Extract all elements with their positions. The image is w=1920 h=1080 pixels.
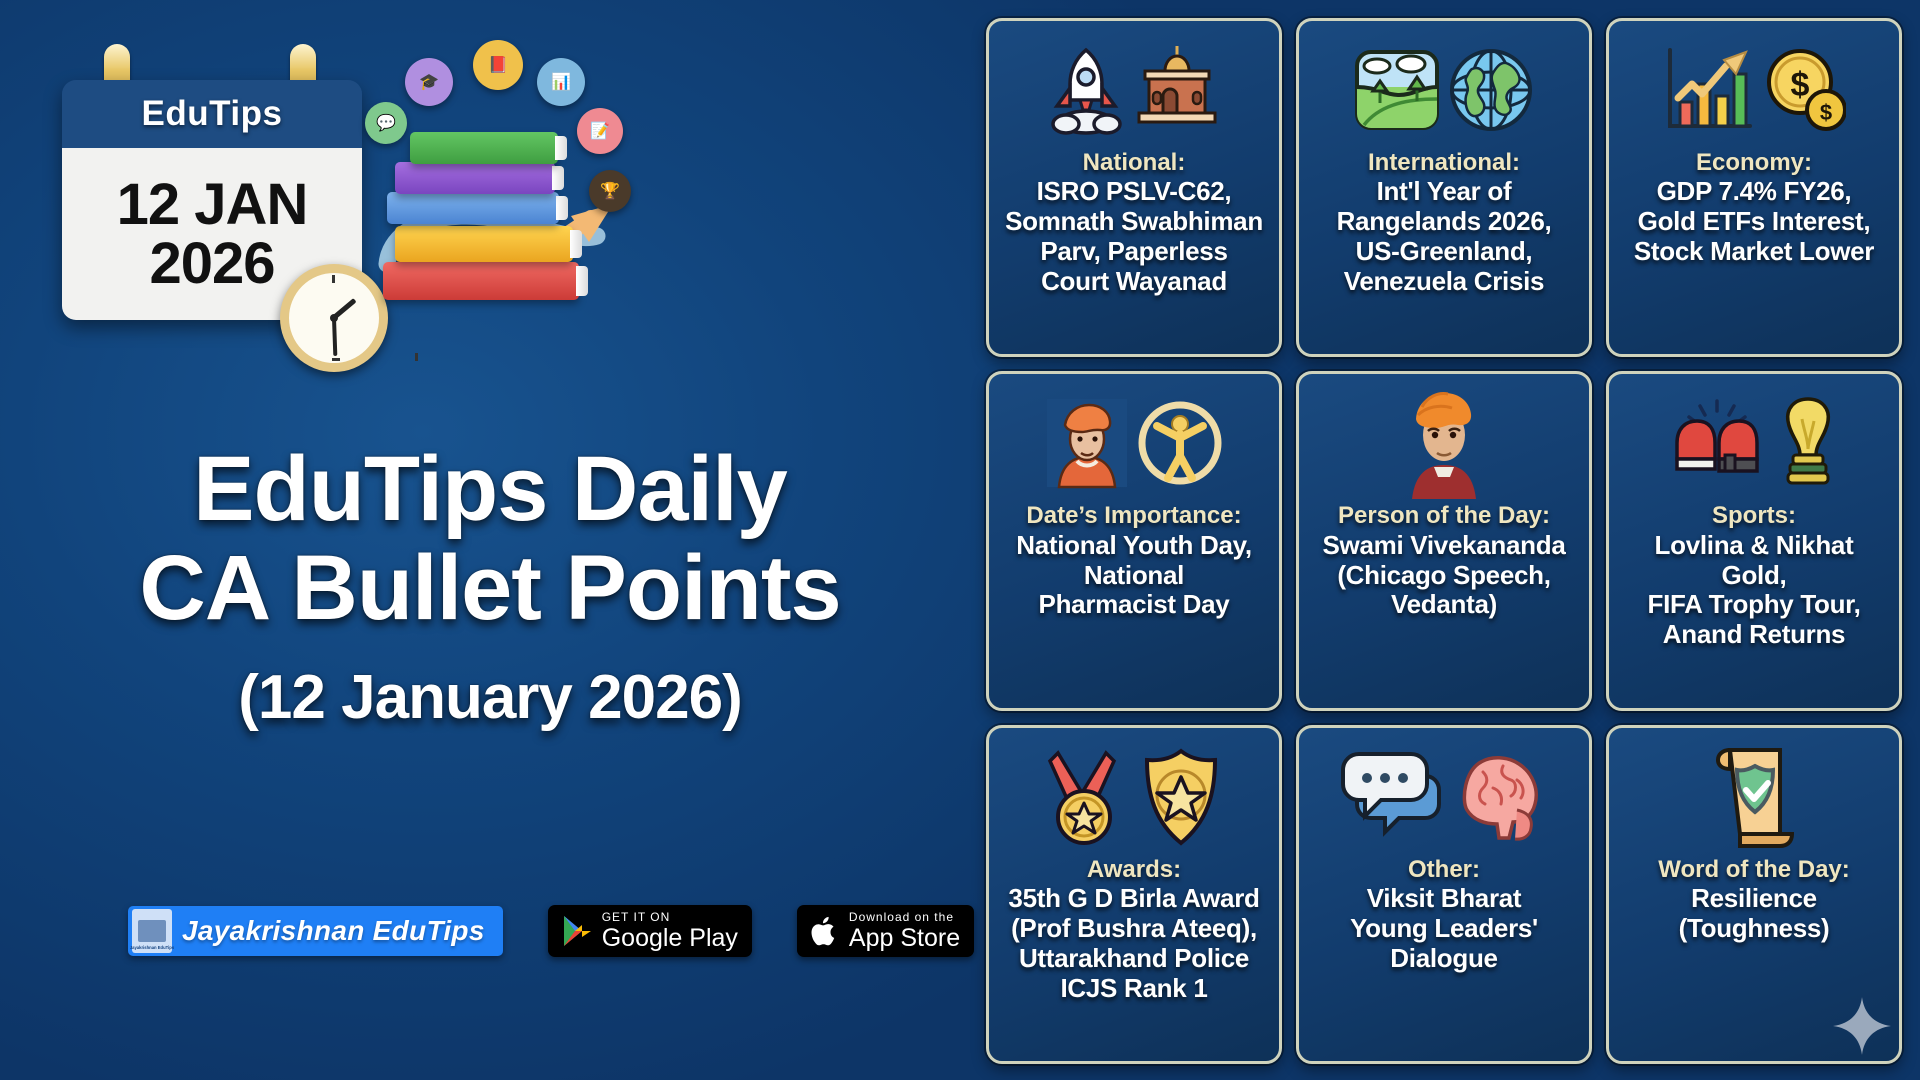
card-awards-line-1: (Prof Bushra Ateeq), — [1011, 914, 1257, 944]
card-sports-line-1: FIFA Trophy Tour, — [1647, 590, 1860, 620]
card-sports-line-0: Lovlina & Nikhat Gold, — [1619, 531, 1889, 591]
newspaper-pen-logo: Jayakrishnan EduTips — [132, 909, 172, 953]
app-store-big-label: App Store — [849, 926, 960, 951]
page-title-line2: CA Bullet Points — [45, 539, 935, 638]
app-store-badge[interactable]: Download on the App Store — [797, 905, 974, 957]
card-word-of-the-day-icons — [1706, 738, 1802, 856]
card-awards-icons — [1044, 738, 1224, 856]
card-awards-line-3: ICJS Rank 1 — [1061, 974, 1208, 1004]
book-purple — [395, 162, 555, 194]
card-other[interactable]: Other: Viksit Bharat Young Leaders' Dial… — [1296, 725, 1592, 1064]
card-economy-heading: Economy: — [1696, 149, 1812, 177]
google-play-icon — [562, 915, 592, 948]
card-economy-icons: $ $ — [1662, 31, 1846, 149]
google-play-big-label: Google Play — [602, 926, 738, 951]
card-other-line-1: Young Leaders' — [1350, 914, 1538, 944]
brand-logo-caption: Jayakrishnan EduTips — [130, 945, 174, 950]
card-national-line-2: Parv, Paperless — [1040, 237, 1227, 267]
card-national-line-0: ISRO PSLV-C62, — [1037, 177, 1232, 207]
card-awards-text: Awards: 35th G D Birla Award (Prof Bushr… — [1004, 856, 1263, 1053]
card-person-of-the-day[interactable]: Person of the Day: Swami Vivekananda (Ch… — [1296, 371, 1592, 710]
card-dates-importance-heading: Date’s Importance: — [1026, 502, 1241, 530]
card-international-line-3: Venezuela Crisis — [1344, 267, 1544, 297]
card-sports-line-2: Anand Returns — [1663, 620, 1845, 650]
card-dates-importance-text: Date’s Importance: National Youth Day, N… — [1012, 502, 1256, 699]
left-panel: EduTips 12 JAN 2026 — [0, 0, 980, 1080]
news-card-grid: National: ISRO PSLV-C62, Somnath Swabhim… — [986, 18, 1902, 1064]
card-dates-importance-line-1: National — [1084, 561, 1184, 591]
world-cup-trophy-icon — [1775, 395, 1841, 491]
card-word-of-the-day-heading: Word of the Day: — [1658, 856, 1850, 884]
card-economy-line-1: Gold ETFs Interest, — [1638, 207, 1871, 237]
card-economy-line-2: Stock Market Lower — [1634, 237, 1874, 267]
card-international-heading: International: — [1368, 149, 1520, 177]
card-national-icons — [1047, 31, 1221, 149]
clock-minute-hand — [332, 318, 337, 356]
card-word-of-the-day-text: Word of the Day: Resilience (Toughness) — [1654, 856, 1854, 1053]
card-dates-importance-icons — [1045, 384, 1223, 502]
books-stack-illustration: 💬 🎓 📕 📊 📝 🏆 — [365, 40, 655, 340]
coins-icon: $ $ — [1762, 46, 1846, 134]
medal-icon — [1044, 747, 1130, 847]
card-person-of-the-day-line-0: Swami Vivekananda — [1323, 531, 1566, 561]
svg-text:$: $ — [1820, 100, 1832, 125]
card-national-line-3: Court Wayanad — [1041, 267, 1227, 297]
page-subtitle: (12 January 2026) — [45, 665, 935, 732]
card-dates-importance-line-0: National Youth Day, — [1016, 531, 1252, 561]
card-awards-line-0: 35th G D Birla Award — [1008, 884, 1259, 914]
card-person-of-the-day-line-2: Vedanta) — [1391, 590, 1497, 620]
card-awards[interactable]: Awards: 35th G D Birla Award (Prof Bushr… — [986, 725, 1282, 1064]
page-title-line1: EduTips Daily — [45, 440, 935, 539]
footer-badges: Jayakrishnan EduTips Jayakrishnan EduTip… — [128, 905, 974, 957]
police-badge-icon — [1138, 747, 1224, 847]
card-sports-heading: Sports: — [1712, 502, 1796, 530]
card-sports-text: Sports: Lovlina & Nikhat Gold, FIFA Trop… — [1615, 502, 1893, 699]
poster-canvas: EduTips 12 JAN 2026 — [0, 0, 1920, 1080]
brain-icon — [1451, 752, 1547, 842]
svg-text:$: $ — [1791, 66, 1810, 104]
book-green — [410, 132, 558, 164]
card-person-of-the-day-heading: Person of the Day: — [1338, 502, 1550, 530]
clock-center-pin — [330, 314, 338, 322]
scroll-shield-icon — [1706, 742, 1802, 852]
speech-bubbles-icon — [1341, 750, 1443, 844]
card-international-line-0: Int'l Year of — [1377, 177, 1512, 207]
card-national-heading: National: — [1083, 149, 1186, 177]
book-yellow — [395, 226, 573, 262]
card-word-of-the-day-line-0: Resilience — [1691, 884, 1817, 914]
book-blue — [387, 192, 559, 224]
brand-name: Jayakrishnan EduTips — [182, 915, 485, 947]
google-play-small-label: GET IT ON — [602, 911, 738, 923]
card-other-line-2: Dialogue — [1390, 944, 1497, 974]
card-international-text: International: Int'l Year of Rangelands … — [1333, 149, 1556, 346]
growth-chart-icon — [1662, 46, 1754, 134]
chat-icon: 💬 — [365, 102, 407, 144]
vivekananda-portrait-icon — [1045, 395, 1129, 491]
card-person-of-the-day-line-1: (Chicago Speech, — [1337, 561, 1550, 591]
card-person-of-the-day-icons — [1388, 384, 1500, 502]
card-awards-heading: Awards: — [1087, 856, 1181, 884]
card-sports[interactable]: Sports: Lovlina & Nikhat Gold, FIFA Trop… — [1606, 371, 1902, 710]
hero-title-block: EduTips Daily CA Bullet Points (12 Janua… — [45, 440, 935, 732]
card-other-line-0: Viksit Bharat — [1367, 884, 1522, 914]
calendar-widget: EduTips 12 JAN 2026 — [62, 52, 362, 322]
calendar-header: EduTips — [62, 80, 362, 148]
landscape-icon — [1354, 47, 1440, 133]
boxing-gloves-icon — [1667, 397, 1767, 489]
google-play-badge[interactable]: GET IT ON Google Play — [548, 905, 752, 957]
rocket-icon — [1047, 44, 1125, 136]
card-economy[interactable]: $ $ Economy: GDP 7.4% FY26, Gold ETFs In… — [1606, 18, 1902, 357]
trophy-person-icon: 🏆 — [589, 170, 631, 212]
calendar-header-label: EduTips — [142, 94, 283, 134]
brand-badge[interactable]: Jayakrishnan EduTips Jayakrishnan EduTip… — [128, 906, 503, 956]
card-international[interactable]: International: Int'l Year of Rangelands … — [1296, 18, 1592, 357]
card-awards-line-2: Uttarakhand Police — [1019, 944, 1249, 974]
card-international-line-2: US-Greenland, — [1356, 237, 1533, 267]
card-national-line-1: Somnath Swabhiman — [1005, 207, 1263, 237]
book-red — [383, 262, 579, 300]
youth-day-icon — [1137, 398, 1223, 488]
globe-icon — [1448, 47, 1534, 133]
book-icon: 📕 — [473, 40, 523, 90]
card-dates-importance-line-2: Pharmacist Day — [1039, 590, 1230, 620]
card-economy-line-0: GDP 7.4% FY26, — [1657, 177, 1852, 207]
graduation-cap-icon: 🎓 — [405, 58, 453, 106]
card-national[interactable]: National: ISRO PSLV-C62, Somnath Swabhim… — [986, 18, 1282, 357]
card-other-icons — [1341, 738, 1547, 856]
card-sports-icons — [1667, 384, 1841, 502]
card-international-line-1: Rangelands 2026, — [1337, 207, 1552, 237]
card-word-of-the-day-line-1: (Toughness) — [1679, 914, 1830, 944]
card-dates-importance[interactable]: Date’s Importance: National Youth Day, N… — [986, 371, 1282, 710]
apple-icon — [811, 914, 839, 948]
card-economy-text: Economy: GDP 7.4% FY26, Gold ETFs Intere… — [1630, 149, 1878, 346]
ai-sparkle-icon — [1831, 995, 1893, 1057]
calendar-year: 2026 — [149, 234, 274, 293]
card-international-icons — [1354, 31, 1534, 149]
calendar-day-month: 12 JAN — [117, 175, 308, 234]
document-pen-icon: 📝 — [577, 108, 623, 154]
card-other-text: Other: Viksit Bharat Young Leaders' Dial… — [1346, 856, 1542, 1053]
card-person-of-the-day-text: Person of the Day: Swami Vivekananda (Ch… — [1319, 502, 1570, 699]
indian-monument-icon — [1133, 44, 1221, 136]
app-store-small-label: Download on the — [849, 911, 960, 923]
card-other-heading: Other: — [1408, 856, 1480, 884]
card-word-of-the-day[interactable]: Word of the Day: Resilience (Toughness) — [1606, 725, 1902, 1064]
card-national-text: National: ISRO PSLV-C62, Somnath Swabhim… — [1001, 149, 1267, 346]
bar-chart-icon: 📊 — [537, 58, 585, 106]
vivekananda-photo-icon — [1388, 385, 1500, 501]
